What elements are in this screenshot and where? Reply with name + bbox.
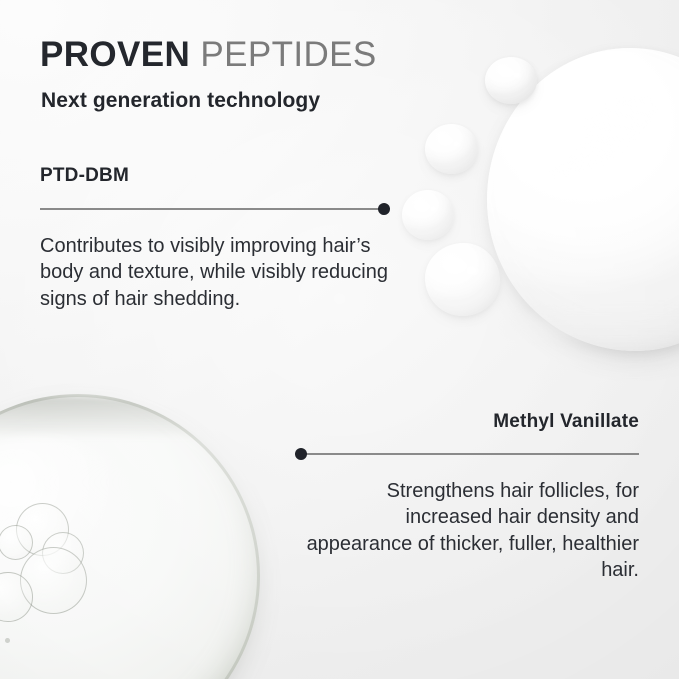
rule-line — [40, 208, 383, 210]
ingredient-description: Contributes to visibly improving hair’s … — [40, 233, 390, 312]
ingredient-block-methyl-vanillate: Methyl Vanillate Strengthens hair follic… — [295, 411, 639, 584]
droplet-highlight — [499, 67, 515, 77]
ingredient-block-ptd-dbm: PTD-DBM Contributes to visibly improving… — [40, 165, 390, 312]
ingredient-rule — [295, 448, 639, 460]
droplet-highlight — [443, 258, 467, 274]
serum-droplet-3 — [402, 190, 454, 240]
rule-dot-icon — [295, 448, 307, 460]
page-title-light: PEPTIDES — [190, 35, 376, 74]
droplet-highlight — [438, 135, 453, 146]
gel-speck — [5, 638, 10, 643]
droplet-highlight — [414, 201, 429, 212]
page-title-strong: PROVEN — [40, 35, 190, 74]
serum-droplet-4 — [425, 243, 500, 316]
droplet-highlight — [513, 72, 521, 78]
marketing-graphic: PROVEN PEPTIDES Next generation technolo… — [0, 0, 679, 679]
droplet-highlight — [466, 266, 478, 275]
serum-droplet-2 — [425, 124, 478, 174]
droplet-highlight — [430, 206, 437, 212]
page-title: PROVEN PEPTIDES — [40, 37, 377, 72]
rule-dot-icon — [378, 203, 390, 215]
droplet-highlight — [453, 141, 460, 147]
rule-line — [303, 453, 639, 455]
droplet-gloss — [530, 80, 670, 192]
gel-bubble — [0, 525, 33, 560]
page-subtitle: Next generation technology — [41, 89, 320, 113]
ingredient-description: Strengthens hair follicles, for increase… — [295, 478, 639, 584]
ingredient-name: Methyl Vanillate — [295, 411, 639, 433]
ingredient-name: PTD-DBM — [40, 165, 390, 187]
serum-droplet-1 — [485, 57, 537, 104]
ingredient-rule — [40, 203, 390, 215]
